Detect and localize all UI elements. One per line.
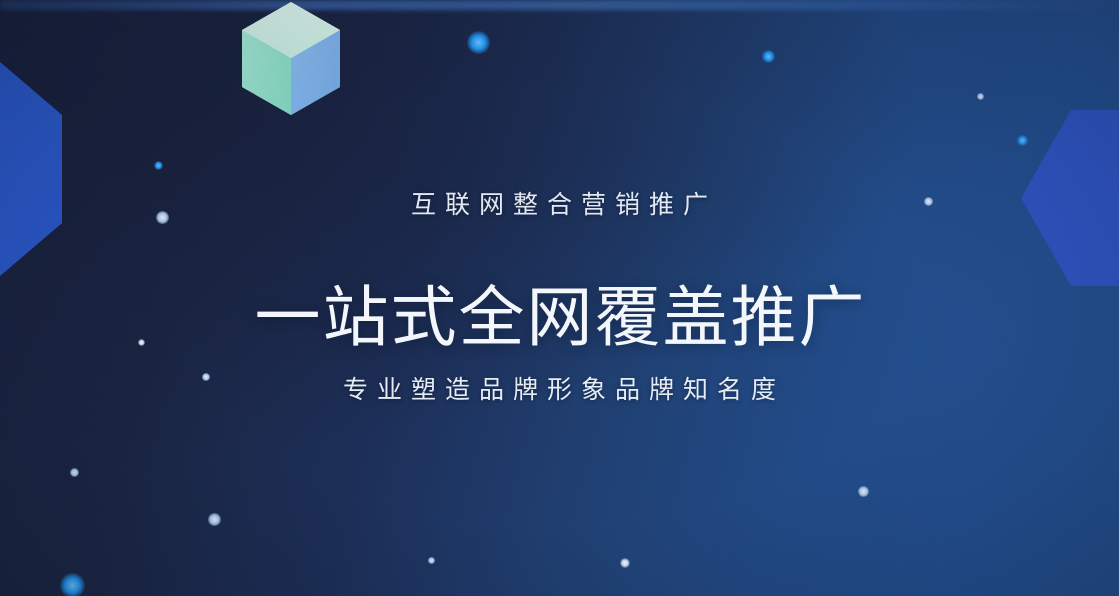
page-title: 一站式全网覆盖推广 — [253, 284, 867, 350]
hero-text-block: 互联网整合营销推广 一站式全网覆盖推广 专业塑造品牌形象品牌知名度 — [0, 0, 1119, 596]
tagline-bottom: 专业塑造品牌形象品牌知名度 — [334, 378, 785, 403]
tagline-top: 互联网整合营销推广 — [402, 193, 717, 218]
hero-banner: 互联网整合营销推广 一站式全网覆盖推广 专业塑造品牌形象品牌知名度 — [0, 0, 1119, 596]
